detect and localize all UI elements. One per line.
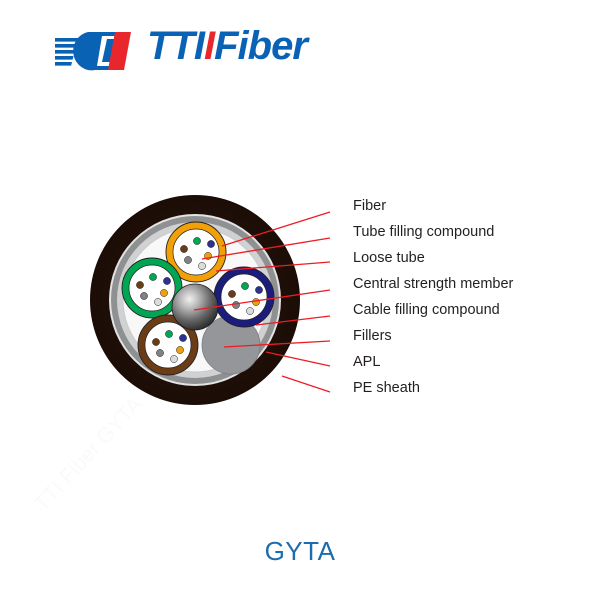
tube-filling-compound: [221, 274, 267, 320]
loose-tube-blue: [214, 267, 274, 327]
product-title: GYTA: [0, 536, 600, 567]
callout-label-tube-filling-compound: Tube filling compound: [353, 224, 494, 240]
tube-filling-compound: [129, 265, 175, 311]
tube-filling-compound: [145, 322, 191, 368]
callout-label-apl: APL: [353, 354, 380, 370]
callout-label-loose-tube: Loose tube: [353, 250, 425, 266]
leader-pe-sheath: [282, 376, 330, 392]
callout-label-cable-filling-compound: Cable filling compound: [353, 302, 500, 318]
callout-label-pe-sheath: PE sheath: [353, 380, 420, 396]
callout-label-fiber: Fiber: [353, 198, 386, 214]
tube-filling-compound: [173, 229, 219, 275]
cable-cross-section: [0, 0, 600, 600]
callout-label-fillers: Fillers: [353, 328, 392, 344]
diagram-page: TTIIFiber: [0, 0, 600, 600]
callout-label-central-strength-member: Central strength member: [353, 276, 513, 292]
